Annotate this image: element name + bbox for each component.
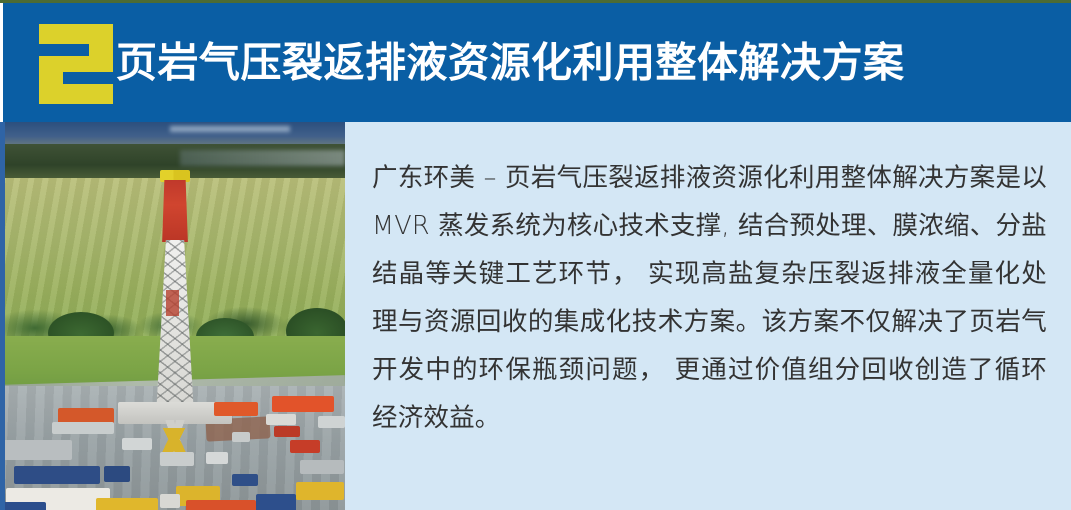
description-panel: 广东环美 – 页岩气压裂返排液资源化利用整体解决方案是以 MVR 蒸发系统为核心… bbox=[345, 122, 1071, 510]
photo-drilling-derrick bbox=[146, 170, 204, 414]
numeral-two-badge-icon bbox=[37, 22, 115, 106]
photo-equipment-unit bbox=[274, 426, 300, 437]
photo-equipment-unit bbox=[0, 440, 72, 460]
header-banner: 页岩气压裂返排液资源化利用整体解决方案 bbox=[0, 3, 1071, 122]
photo-equipment-unit bbox=[186, 500, 256, 510]
photo-equipment-unit bbox=[104, 466, 130, 482]
page-title: 页岩气压裂返排液资源化利用整体解决方案 bbox=[116, 42, 905, 83]
photo-equipment-unit bbox=[0, 502, 46, 510]
photo-equipment-unit bbox=[300, 460, 344, 474]
photo-equipment-unit bbox=[256, 494, 296, 510]
banner-left-edge bbox=[0, 3, 3, 122]
derrick-mid-red-marker bbox=[166, 290, 179, 316]
photo-distant-haze bbox=[180, 150, 345, 166]
photo-equipment-unit bbox=[96, 498, 158, 510]
drilling-site-photo bbox=[0, 122, 345, 510]
photo-equipment-unit bbox=[160, 494, 180, 508]
photo-left-edge-strip bbox=[0, 122, 5, 510]
content-area: 广东环美 – 页岩气压裂返排液资源化利用整体解决方案是以 MVR 蒸发系统为核心… bbox=[0, 122, 1071, 510]
photo-equipment-unit bbox=[52, 422, 114, 434]
photo-equipment-unit bbox=[206, 452, 228, 464]
photo-equipment-unit bbox=[318, 416, 345, 428]
photo-sky-highlight bbox=[170, 126, 290, 132]
photo-equipment-unit bbox=[296, 482, 344, 500]
photo-equipment-unit bbox=[266, 414, 296, 425]
photo-equipment-unit bbox=[290, 440, 320, 453]
photo-equipment-unit bbox=[232, 474, 258, 486]
slide-page: 页岩气压裂返排液资源化利用整体解决方案 bbox=[0, 0, 1071, 510]
solution-description-text: 广东环美 – 页岩气压裂返排液资源化利用整体解决方案是以 MVR 蒸发系统为核心… bbox=[372, 154, 1047, 442]
photo-equipment-unit bbox=[272, 396, 334, 412]
photo-equipment-unit bbox=[14, 466, 100, 484]
derrick-upper-red-section bbox=[161, 180, 189, 242]
photo-equipment-unit bbox=[214, 402, 258, 416]
photo-equipment-unit bbox=[160, 452, 194, 466]
derrick-lattice-truss bbox=[156, 240, 194, 416]
photo-equipment-unit bbox=[122, 438, 152, 450]
photo-equipment-unit bbox=[232, 432, 250, 442]
